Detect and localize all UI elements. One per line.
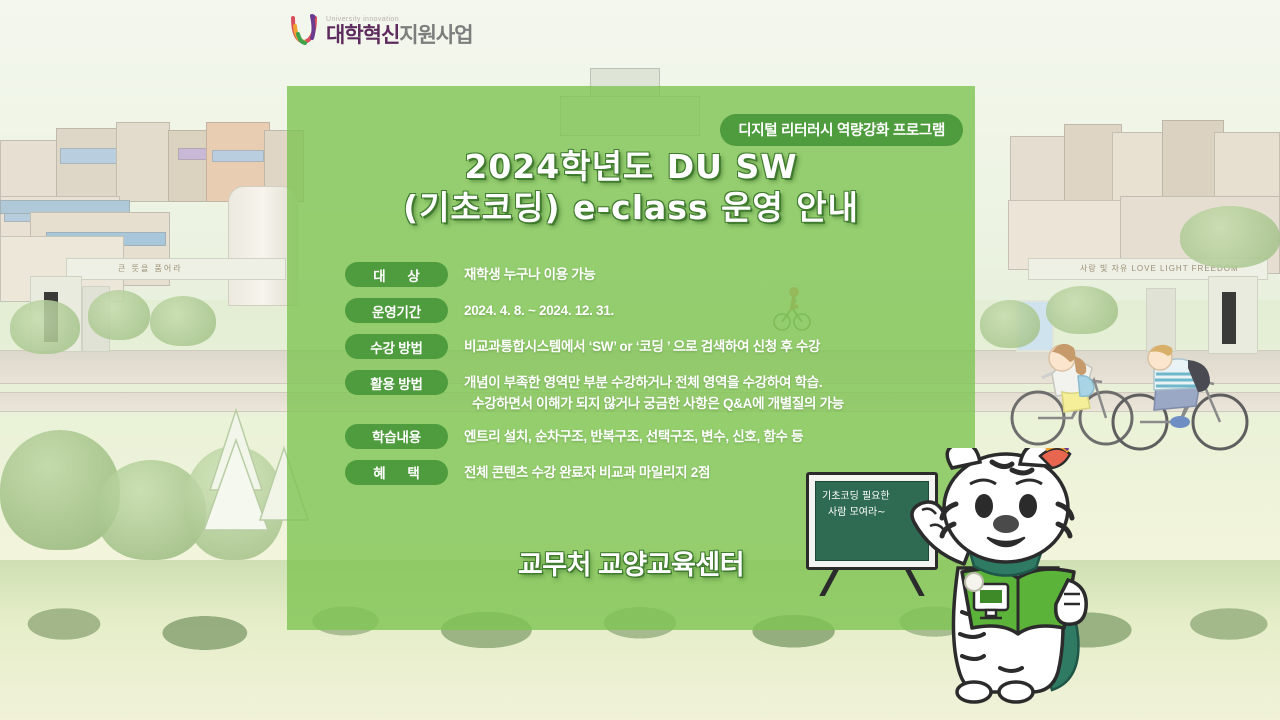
row-value-line: 2024. 4. 8. ~ 2024. 12. 31. xyxy=(464,301,614,322)
row-value-line: 재학생 누구나 이용 가능 xyxy=(464,265,596,286)
tiger-mascot xyxy=(900,448,1130,710)
program-badge: 디지털 리터러시 역량강화 프로그램 xyxy=(720,114,963,146)
building-block xyxy=(60,148,118,164)
poster-title: 2024학년도 DU SW (기초코딩) e-class 운영 안내 xyxy=(287,146,975,229)
row-value-curriculum: 엔트리 설치, 순차구조, 반복구조, 선택구조, 변수, 신호, 함수 등 xyxy=(464,424,803,448)
university-innovation-logo: University innovation 대학혁신지원사업 xyxy=(290,14,473,48)
gate-left-text: 큰 뜻을 품어라 xyxy=(118,263,183,274)
building-block xyxy=(116,122,170,202)
info-row: 활용 방법 개념이 부족한 영역만 부분 수강하거나 전체 영역을 수강하여 학… xyxy=(345,370,961,415)
logo-u-icon xyxy=(290,14,320,48)
row-label-benefit: 혜 택 xyxy=(345,460,448,485)
row-value-target: 재학생 누구나 이용 가능 xyxy=(464,262,596,286)
building-block xyxy=(1214,132,1280,206)
row-value-line: 전체 콘텐츠 수강 완료자 비교과 마일리지 2점 xyxy=(464,463,710,484)
info-row: 대 상 재학생 누구나 이용 가능 xyxy=(345,262,961,287)
tree xyxy=(150,296,216,346)
info-row: 수강 방법 비교과통합시스템에서 ‘SW’ or ‘코딩 ’ 으로 검색하여 신… xyxy=(345,334,961,359)
row-label-period: 운영기간 xyxy=(345,298,448,323)
row-label-target: 대 상 xyxy=(345,262,448,287)
logo-korean-part1: 대학혁신 xyxy=(326,24,399,47)
logo-text-block: University innovation 대학혁신지원사업 xyxy=(326,16,473,46)
row-label-curriculum: 학습내용 xyxy=(345,424,448,449)
info-row: 운영기간 2024. 4. 8. ~ 2024. 12. 31. xyxy=(345,298,961,323)
logo-english-text: University innovation xyxy=(326,16,473,23)
tree xyxy=(88,290,150,340)
row-value-enrollment-method: 비교과통합시스템에서 ‘SW’ or ‘코딩 ’ 으로 검색하여 신청 후 수강 xyxy=(464,334,820,358)
tree xyxy=(1180,206,1280,268)
row-label-enrollment-method: 수강 방법 xyxy=(345,334,448,359)
row-value-line: 엔트리 설치, 순차구조, 반복구조, 선택구조, 변수, 신호, 함수 등 xyxy=(464,427,803,448)
tree xyxy=(10,300,80,354)
row-value-line: 수강하면서 이해가 되지 않거나 궁금한 사항은 Q&A에 개별질의 가능 xyxy=(464,394,844,415)
info-rows: 대 상 재학생 누구나 이용 가능 운영기간 2024. 4. 8. ~ 202… xyxy=(345,262,961,496)
cyclist-male xyxy=(1110,326,1260,456)
building-block xyxy=(212,150,264,162)
row-label-usage-method: 활용 방법 xyxy=(345,370,448,395)
info-row: 학습내용 엔트리 설치, 순차구조, 반복구조, 선택구조, 변수, 신호, 함… xyxy=(345,424,961,449)
title-line-2: (기초코딩) e-class 운영 안내 xyxy=(287,187,975,228)
logo-korean-text: 대학혁신지원사업 xyxy=(326,25,473,46)
title-line-1: 2024학년도 DU SW xyxy=(464,147,797,186)
row-value-line: 개념이 부족한 영역만 부분 수강하거나 전체 영역을 수강하여 학습. xyxy=(464,373,844,394)
row-value-usage-method: 개념이 부족한 영역만 부분 수강하거나 전체 영역을 수강하여 학습. 수강하… xyxy=(464,370,844,415)
logo-korean-part2: 지원사업 xyxy=(399,24,472,47)
row-value-benefit: 전체 콘텐츠 수강 완료자 비교과 마일리지 2점 xyxy=(464,460,710,484)
row-value-period: 2024. 4. 8. ~ 2024. 12. 31. xyxy=(464,298,614,322)
row-value-line: 비교과통합시스템에서 ‘SW’ or ‘코딩 ’ 으로 검색하여 신청 후 수강 xyxy=(464,337,820,358)
building-block xyxy=(56,128,118,202)
poster-canvas: 큰 뜻을 품어라 사랑 빛 자유 LOVE LIGHT FREEDOM xyxy=(0,0,1280,720)
